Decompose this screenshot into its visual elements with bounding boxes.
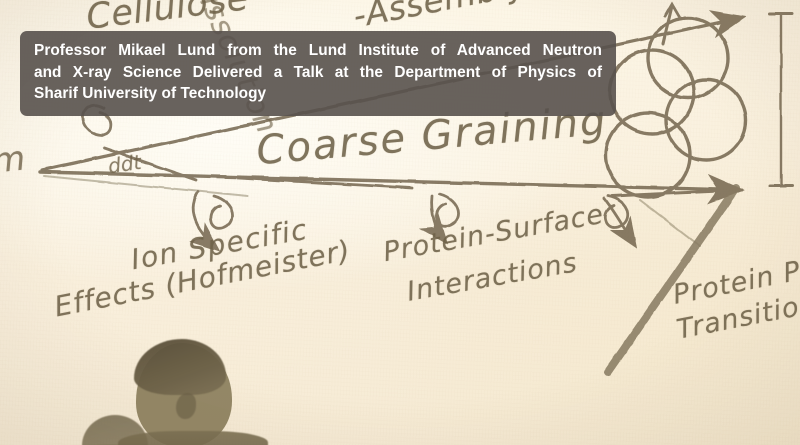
handwriting-ddt: ddt <box>106 150 142 178</box>
speaker-shoulder <box>118 431 268 445</box>
title-line-2: and X-ray Science Delivered a Talk at th… <box>34 62 602 84</box>
measurement-bar <box>770 14 792 186</box>
title-line-3: Sharif University of Technology <box>34 83 602 105</box>
title-line-1: Professor Mikael Lund from the Lund Inst… <box>34 40 602 62</box>
speaker-silhouette <box>118 339 268 445</box>
speaker-hair <box>134 339 226 395</box>
molecule-circles <box>606 18 746 197</box>
article-title-banner: Professor Mikael Lund from the Lund Inst… <box>20 31 616 116</box>
article-header-image: Cellulose -Assembly Dissolution Coarse G… <box>0 0 800 445</box>
handwriting-m-edge: m <box>0 138 28 181</box>
